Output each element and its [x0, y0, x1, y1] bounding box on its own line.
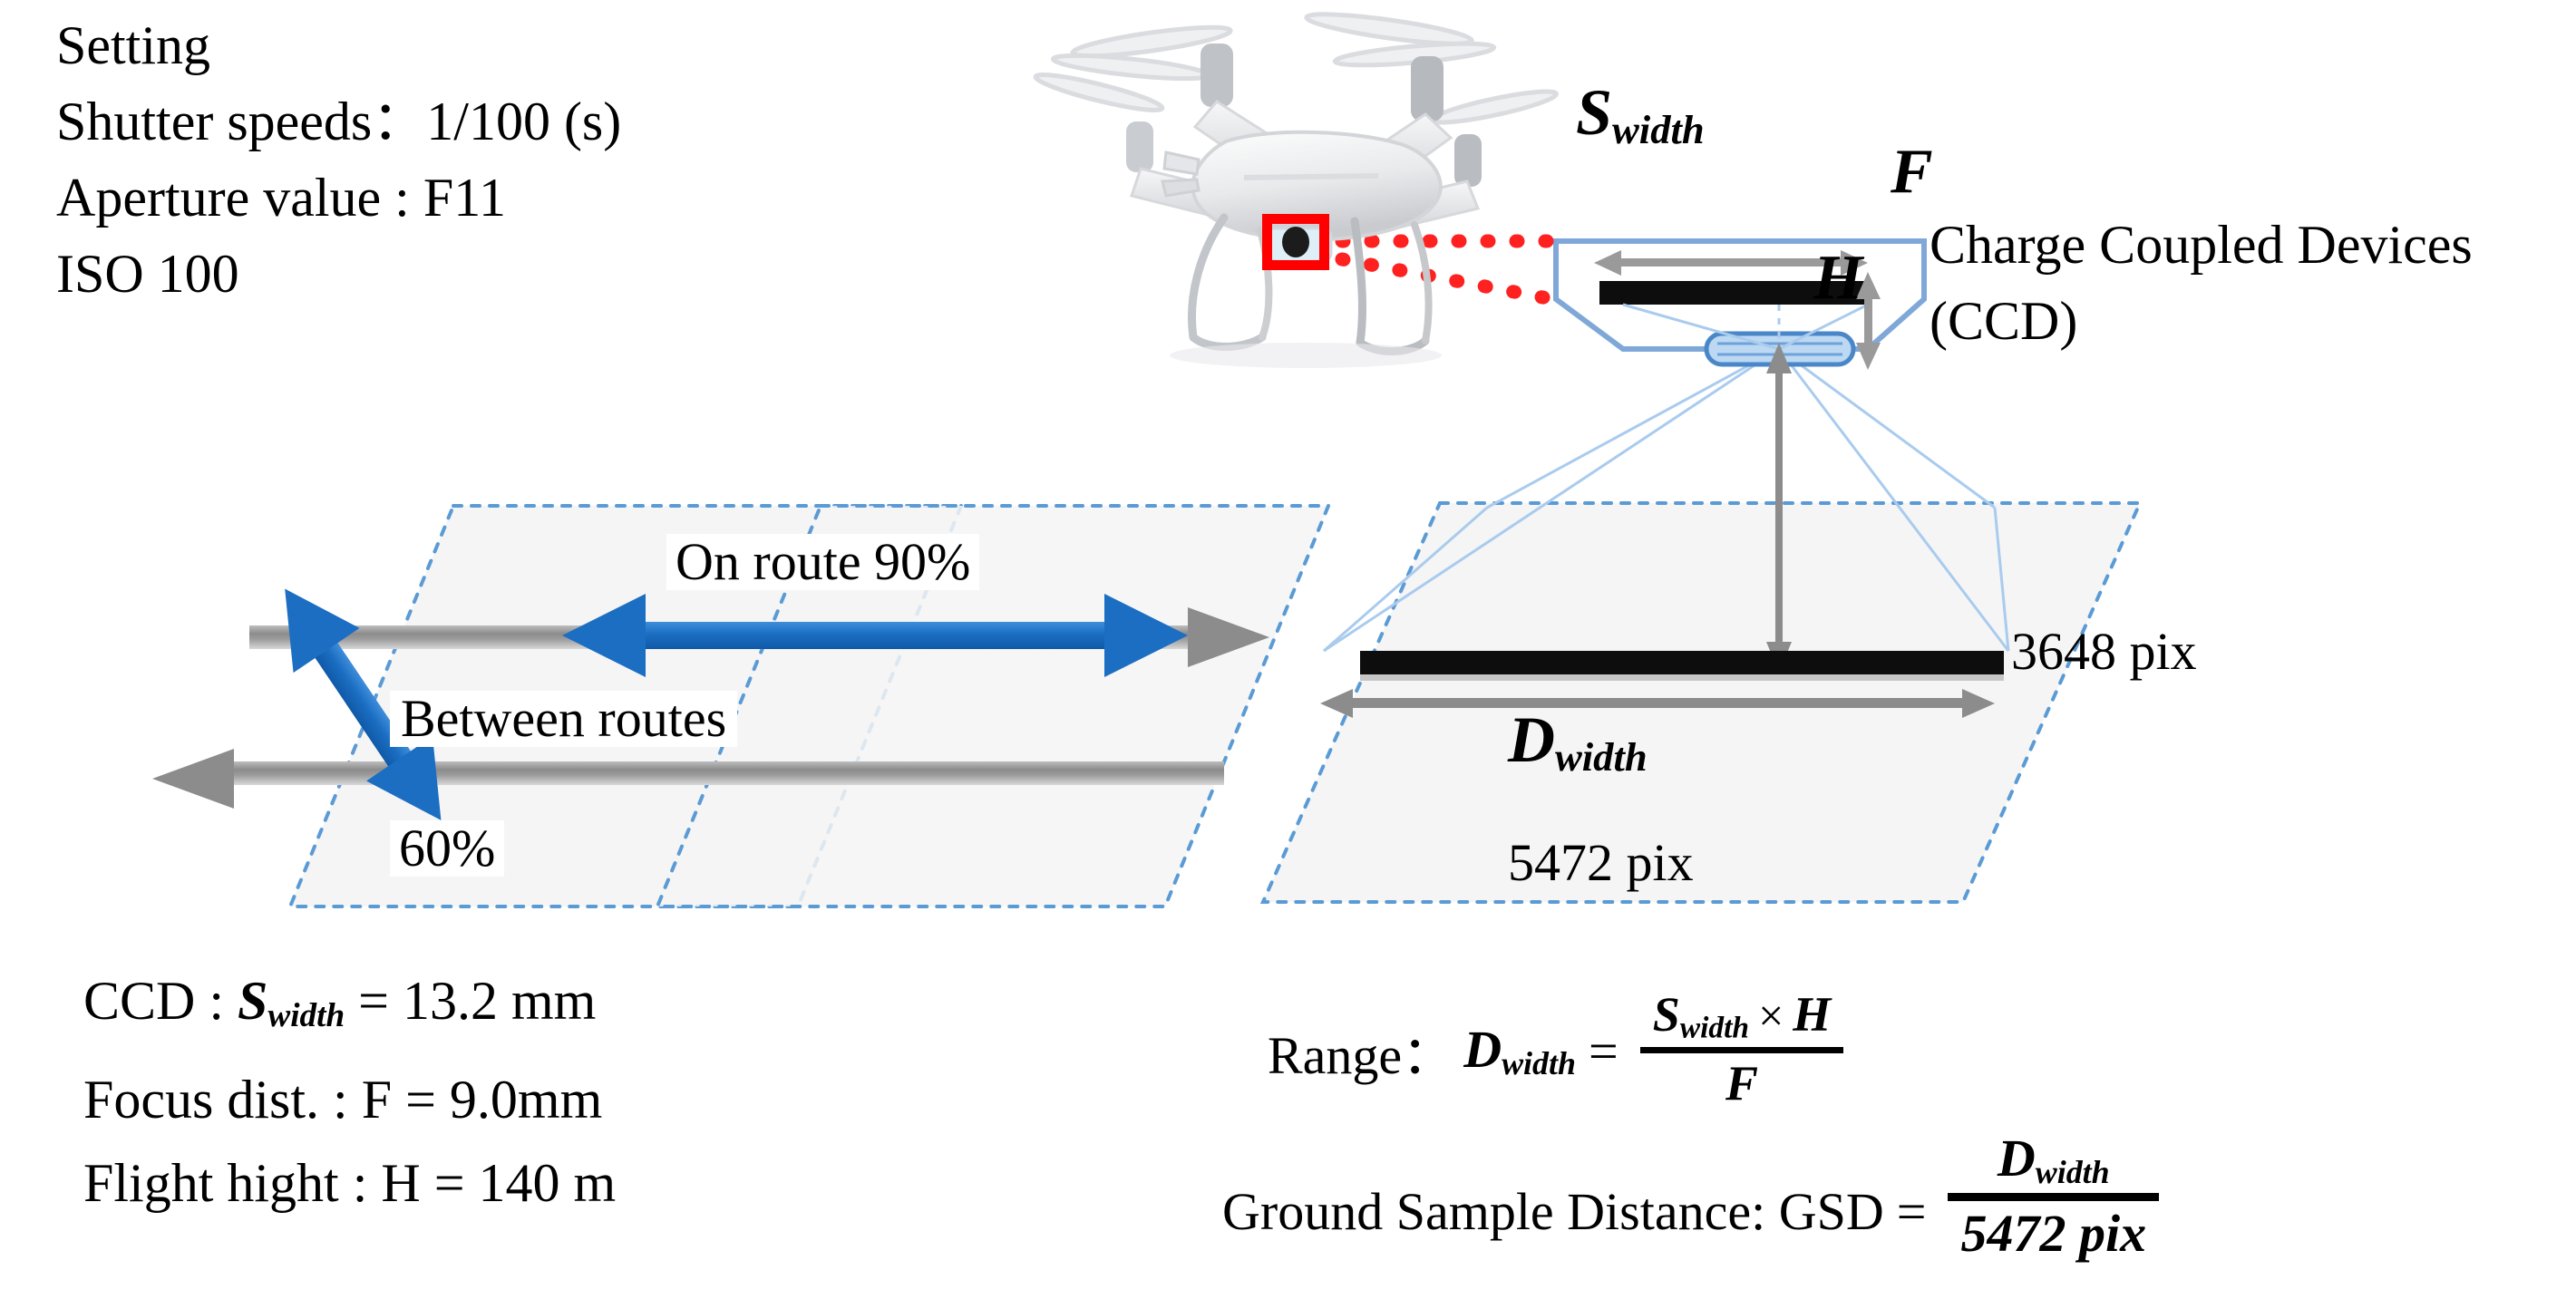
- range-equation-fraction-bar: [1640, 1047, 1844, 1053]
- range-equation-equals: =: [1589, 1021, 1619, 1081]
- drone-illustration: [1034, 8, 1558, 368]
- settings-heading: Setting: [56, 7, 621, 83]
- between-routes-overlap-value: 60%: [390, 820, 504, 877]
- sensor-width-label: Swidth: [1576, 80, 1705, 150]
- settings-block: Setting Shutter speeds：1/100 (s) Apertur…: [56, 7, 621, 312]
- gsd-equation-numerator: Dwidth: [1985, 1128, 2123, 1193]
- ground-sensor-bar: [1360, 651, 2004, 681]
- range-equation-lhs: Dwidth: [1463, 1019, 1576, 1082]
- gsd-equation-label: Ground Sample Distance: GSD: [1222, 1181, 1884, 1242]
- settings-iso-line: ISO 100: [56, 236, 621, 312]
- ccd-callout-title: Charge Coupled Devices: [1930, 207, 2473, 283]
- spec-focus-line: Focus dist. : F = 9.0mm: [83, 1058, 616, 1141]
- flight-height-label: H: [1813, 247, 1862, 310]
- settings-aperture-line: Aperture value : F11: [56, 160, 621, 236]
- gsd-equation-fraction: Dwidth 5472 pix: [1948, 1128, 2159, 1264]
- range-equation-numerator: Swidth×H: [1640, 986, 1844, 1047]
- camera-lens-icon: [1282, 227, 1309, 257]
- spec-flight-line: Flight hight : H = 140 m: [83, 1141, 616, 1225]
- range-equation: Range： Dwidth = Swidth×H F: [1268, 988, 1852, 1113]
- gsd-equation: Ground Sample Distance: GSD = Dwidth 547…: [1222, 1144, 2168, 1280]
- spec-ccd-line: CCD : Swidth = 13.2 mm: [83, 959, 616, 1058]
- on-route-overlap-label: On route 90%: [666, 534, 979, 590]
- settings-shutter-line: Shutter speeds：1/100 (s): [56, 83, 621, 160]
- spec-ccd-var: Swidth: [238, 971, 345, 1031]
- ground-width-label: Dwidth: [1508, 707, 1648, 777]
- ground-pixels-label: 5472 pix: [1508, 837, 1694, 889]
- specs-block: CCD : Swidth = 13.2 mm Focus dist. : F =…: [83, 959, 616, 1225]
- between-routes-label: Between routes: [390, 691, 737, 747]
- range-equation-label: Range：: [1268, 1013, 1454, 1089]
- ccd-callout-abbrev: (CCD): [1930, 283, 2473, 359]
- gsd-equation-fraction-bar: [1948, 1193, 2159, 1201]
- gsd-equation-equals: =: [1897, 1181, 1927, 1242]
- gsd-equation-denominator: 5472 pix: [1948, 1201, 2159, 1264]
- range-equation-fraction: Swidth×H F: [1640, 986, 1844, 1111]
- camera-callout-box: [1262, 214, 1329, 270]
- ccd-callout-text: Charge Coupled Devices (CCD): [1930, 207, 2473, 359]
- range-equation-denominator: F: [1713, 1053, 1771, 1111]
- sensor-pixels-label: 3648 pix: [2011, 625, 2197, 678]
- focal-length-label: F: [1891, 141, 1933, 204]
- callout-ray-lines: [1342, 241, 1552, 299]
- diagram-canvas: Setting Shutter speeds：1/100 (s) Apertur…: [0, 0, 2576, 1299]
